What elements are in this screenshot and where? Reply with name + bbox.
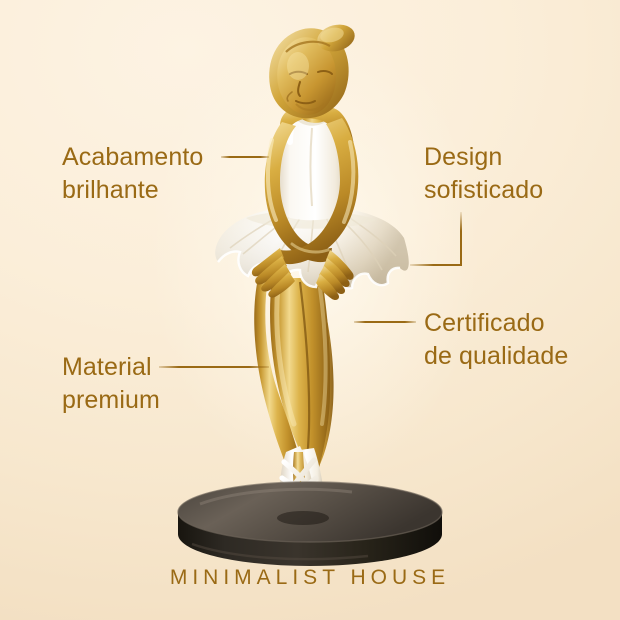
callout-label-certificado-de-qualidade: Certificado de qualidade [424, 307, 568, 373]
round-base [178, 482, 442, 566]
connector-line-material [159, 366, 269, 368]
pointe-shoes [280, 446, 325, 523]
hand-right [316, 250, 354, 300]
shoe-ribbons [282, 460, 316, 506]
connector-line-acabamento [221, 156, 269, 158]
tutu-skirt [215, 206, 409, 288]
connector-elbow-horizontal [410, 264, 462, 266]
callout-label-material-premium: Material premium [62, 351, 160, 417]
connector-elbow-design [410, 212, 462, 266]
brand-wordmark: MINIMALIST HOUSE [0, 566, 620, 590]
face-features [287, 71, 332, 103]
callout-label-design-sofisticado: Design sofisticado [424, 141, 543, 207]
legs [254, 278, 333, 474]
bodice [276, 110, 349, 220]
background-glow [150, 40, 480, 510]
connector-elbow-vertical [460, 212, 462, 266]
floor-shadow [175, 508, 445, 560]
neck-shoulders [280, 84, 354, 150]
callout-label-acabamento-brilhante: Acabamento brilhante [62, 141, 203, 207]
head [269, 21, 357, 118]
crossed-arms [252, 118, 358, 300]
product-infographic: Acabamento brilhante Design sofisticado … [0, 0, 620, 620]
hair-bun [314, 21, 357, 55]
connector-line-certificado [354, 321, 416, 323]
hand-left [252, 248, 295, 298]
